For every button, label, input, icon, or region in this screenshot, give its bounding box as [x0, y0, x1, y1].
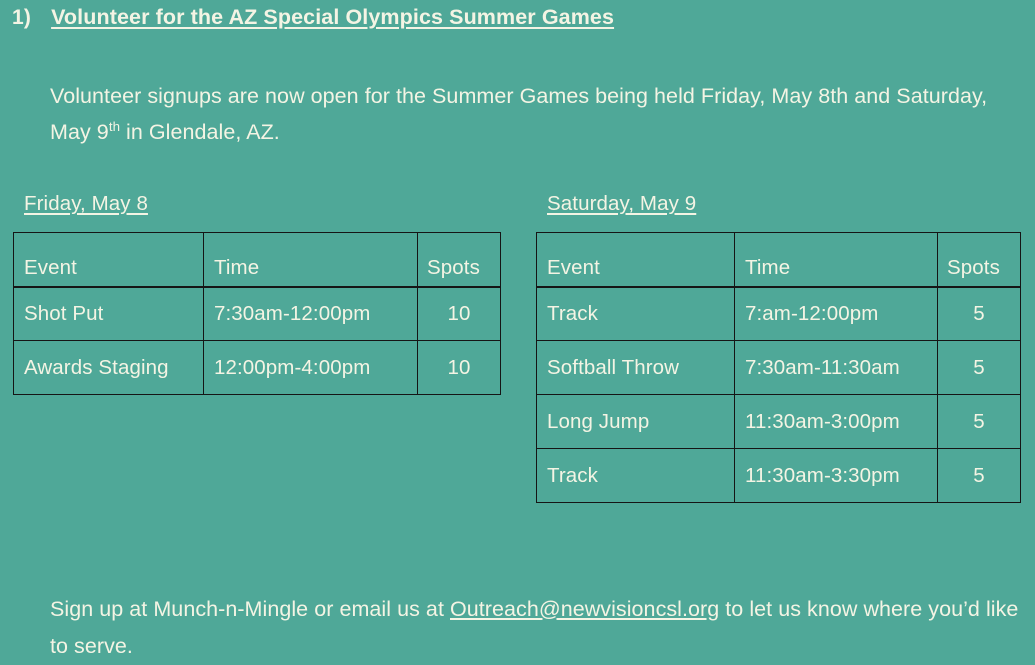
table-row: Shot Put 7:30am-12:00pm 10: [14, 287, 501, 341]
footer-text-part-1: Sign up at Munch-n-Mingle or email us at: [50, 597, 450, 621]
friday-schedule-table: Event Time Spots Shot Put 7:30am-12:00pm…: [13, 232, 501, 395]
ordinal-suffix: th: [109, 118, 120, 133]
numbered-heading: 1) Volunteer for the AZ Special Olympics…: [12, 2, 614, 33]
cell-spots: 5: [938, 287, 1021, 341]
announcement-page: 1) Volunteer for the AZ Special Olympics…: [0, 0, 1035, 644]
column-header-event: Event: [537, 233, 735, 287]
table-row: Long Jump 11:30am-3:00pm 5: [537, 395, 1021, 449]
cell-spots: 5: [938, 449, 1021, 503]
list-marker: 1): [12, 3, 31, 33]
contact-email-link[interactable]: Outreach@newvisioncsl.org: [450, 597, 719, 621]
column-header-event: Event: [14, 233, 204, 287]
cell-event: Shot Put: [14, 287, 204, 341]
cell-event: Softball Throw: [537, 341, 735, 395]
cell-time: 11:30am-3:00pm: [735, 395, 938, 449]
cell-event: Long Jump: [537, 395, 735, 449]
cell-event: Track: [537, 287, 735, 341]
intro-paragraph: Volunteer signups are now open for the S…: [50, 78, 1025, 150]
cell-time: 7:30am-12:00pm: [204, 287, 418, 341]
cell-event: Awards Staging: [14, 341, 204, 395]
cell-spots: 10: [418, 341, 501, 395]
cell-time: 7:30am-11:30am: [735, 341, 938, 395]
cell-time: 12:00pm-4:00pm: [204, 341, 418, 395]
column-header-spots: Spots: [938, 233, 1021, 287]
table-header-row: Event Time Spots: [537, 233, 1021, 287]
table-row: Softball Throw 7:30am-11:30am 5: [537, 341, 1021, 395]
column-header-spots: Spots: [418, 233, 501, 287]
cell-spots: 10: [418, 287, 501, 341]
page-title: Volunteer for the AZ Special Olympics Su…: [51, 2, 614, 32]
saturday-schedule-table: Event Time Spots Track 7:am-12:00pm 5 So…: [536, 232, 1021, 503]
cell-spots: 5: [938, 395, 1021, 449]
signup-instructions: Sign up at Munch-n-Mingle or email us at…: [50, 591, 1025, 665]
table-header-row: Event Time Spots: [14, 233, 501, 287]
table-row: Awards Staging 12:00pm-4:00pm 10: [14, 341, 501, 395]
cell-spots: 5: [938, 341, 1021, 395]
cell-time: 11:30am-3:30pm: [735, 449, 938, 503]
cell-event: Track: [537, 449, 735, 503]
intro-text-part-2: in Glendale, AZ.: [120, 120, 280, 144]
friday-date-heading: Friday, May 8: [24, 191, 148, 217]
column-header-time: Time: [735, 233, 938, 287]
cell-time: 7:am-12:00pm: [735, 287, 938, 341]
table-row: Track 7:am-12:00pm 5: [537, 287, 1021, 341]
column-header-time: Time: [204, 233, 418, 287]
saturday-date-heading: Saturday, May 9: [547, 191, 696, 217]
table-row: Track 11:30am-3:30pm 5: [537, 449, 1021, 503]
